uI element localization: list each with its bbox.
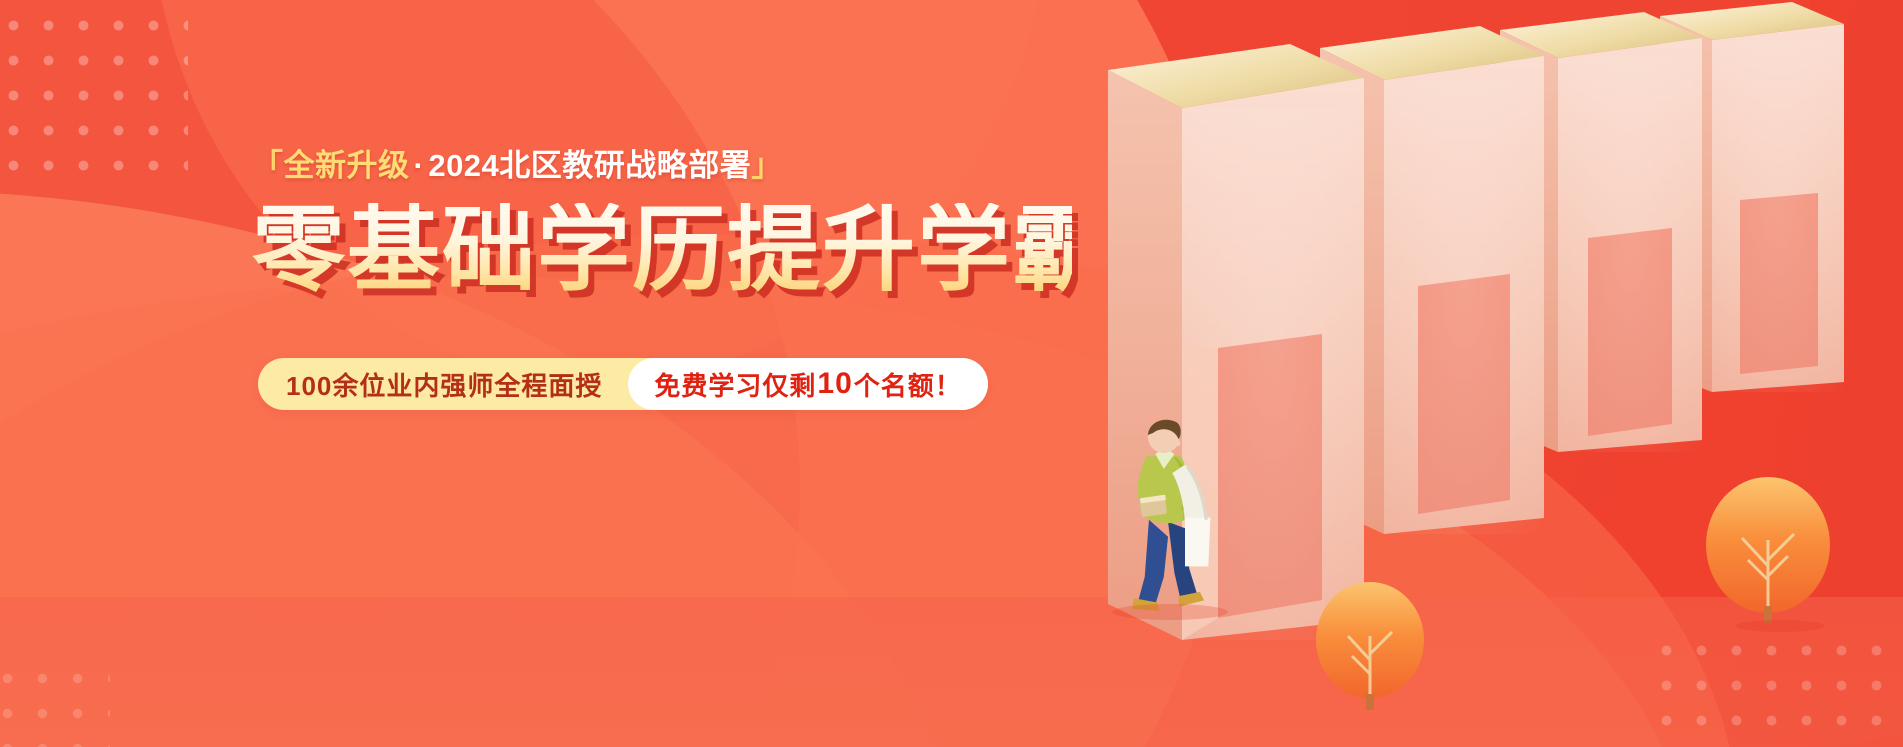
badge-row: 100余位业内强师全程面授 免费学习仅剩10个名额！	[258, 358, 988, 410]
tree-icon-right	[1706, 477, 1830, 632]
badge-teachers: 100余位业内强师全程面授	[286, 366, 628, 403]
bracket-close: 」	[751, 148, 783, 183]
banner-copy: 「全新升级·2024北区教研战略部署」 零基础学历提升学霸班	[252, 150, 1072, 298]
book-archway-illustration	[960, 0, 1903, 747]
bracket-open: 「	[252, 148, 284, 183]
kicker-separator: ·	[410, 148, 429, 183]
badge-seats-remaining[interactable]: 免费学习仅剩10个名额！	[628, 358, 987, 410]
banner-kicker: 「全新升级·2024北区教研战略部署」	[252, 150, 1072, 181]
banner-headline: 零基础学历提升学霸班	[252, 203, 1072, 298]
promo-banner: 「全新升级·2024北区教研战略部署」 零基础学历提升学霸班 100余位业内强师…	[0, 0, 1903, 747]
badge-seats-suffix: 个名额！	[854, 366, 962, 403]
badge-seats-prefix: 免费学习仅剩	[654, 366, 816, 403]
book-arch-icon-1	[1108, 44, 1364, 640]
kicker-rest: 2024北区教研战略部署	[428, 148, 751, 183]
tree-icon-left	[1316, 582, 1424, 710]
badge-seats-count: 10	[816, 367, 853, 401]
kicker-highlight: 全新升级	[284, 148, 410, 183]
